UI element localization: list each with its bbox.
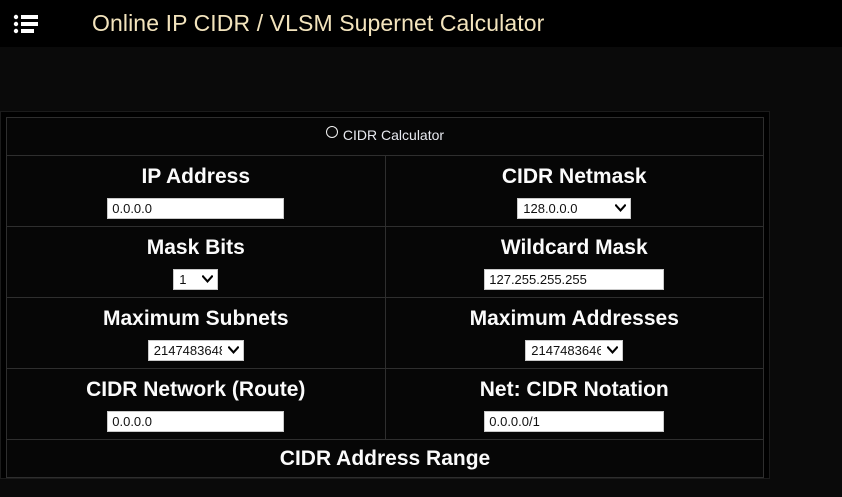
field-cidr-network-route: CIDR Network (Route) [7,369,386,440]
field-maximum-subnets: Maximum Subnets 2147483648 [7,298,386,369]
label-ip-address: IP Address [7,164,385,190]
field-wildcard-mask: Wildcard Mask [385,227,764,298]
maximum-subnets-select-value: 2147483648 [154,343,222,358]
table-row-address-range: CIDR Address Range [7,440,764,478]
label-cidr-network-route: CIDR Network (Route) [7,377,385,403]
table-row: IP Address CIDR Netmask 128.0.0.0 [7,156,764,227]
table-row: Mask Bits 1 Wildcard Mask [7,227,764,298]
cidr-calculator-radio-label: CIDR Calculator [343,128,444,142]
field-mask-bits: Mask Bits 1 [7,227,386,298]
cidr-calculator-radio[interactable] [326,126,338,138]
field-net-cidr-notation: Net: CIDR Notation [385,369,764,440]
maximum-addresses-select[interactable]: 2147483646 [525,340,623,361]
chevron-down-icon [607,346,618,354]
label-net-cidr-notation: Net: CIDR Notation [386,377,764,403]
menu-toggle-button[interactable] [4,0,48,47]
list-menu-icon [13,13,39,35]
cidr-calculator-radio-group[interactable]: CIDR Calculator [326,128,444,142]
ip-address-input[interactable] [107,198,284,219]
chevron-down-icon [615,204,626,212]
page-content: CIDR Calculator IP Address CIDR Netmask … [0,47,842,497]
top-navigation-bar: Online IP CIDR / VLSM Supernet Calculato… [0,0,842,47]
label-cidr-address-range: CIDR Address Range [280,447,490,470]
label-maximum-subnets: Maximum Subnets [7,306,385,332]
mask-bits-select-value: 1 [179,272,186,287]
field-maximum-addresses: Maximum Addresses 2147483646 [385,298,764,369]
mask-bits-select[interactable]: 1 [173,269,218,290]
table-row: Maximum Subnets 2147483648 Maximum Addre… [7,298,764,369]
cidr-netmask-select[interactable]: 128.0.0.0 [517,198,631,219]
chevron-down-icon [202,275,213,283]
cidr-calculator-table: CIDR Calculator IP Address CIDR Netmask … [6,117,764,478]
label-cidr-netmask: CIDR Netmask [386,164,764,190]
label-wildcard-mask: Wildcard Mask [386,235,764,261]
label-maximum-addresses: Maximum Addresses [386,306,764,332]
field-ip-address: IP Address [7,156,386,227]
maximum-addresses-select-value: 2147483646 [531,343,601,358]
mode-selector-cell: CIDR Calculator [7,118,764,156]
cidr-network-route-input[interactable] [107,411,284,432]
table-row: CIDR Network (Route) Net: CIDR Notation [7,369,764,440]
net-cidr-notation-input[interactable] [484,411,664,432]
table-row-mode: CIDR Calculator [7,118,764,156]
cidr-netmask-select-value: 128.0.0.0 [523,201,577,216]
maximum-subnets-select[interactable]: 2147483648 [148,340,244,361]
chevron-down-icon [228,346,239,354]
page-title: Online IP CIDR / VLSM Supernet Calculato… [92,10,544,37]
field-cidr-netmask: CIDR Netmask 128.0.0.0 [385,156,764,227]
wildcard-mask-input[interactable] [484,269,664,290]
label-mask-bits: Mask Bits [7,235,385,261]
cidr-calculator-panel: CIDR Calculator IP Address CIDR Netmask … [0,111,770,479]
cidr-address-range-cell: CIDR Address Range [7,440,764,478]
